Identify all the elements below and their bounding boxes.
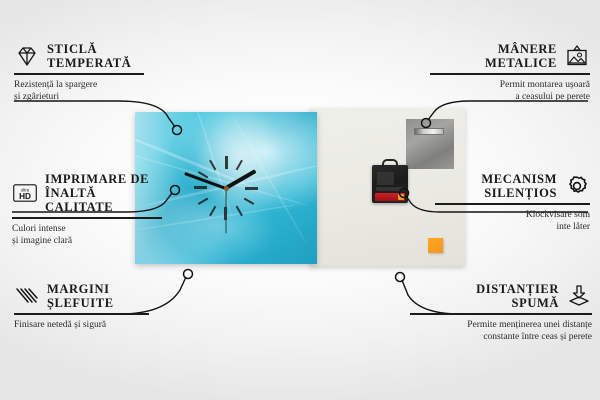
callout-subtitle-line1: Permit montarea ușoară	[430, 79, 590, 91]
callout-subtitle-line1: Culori intense	[12, 223, 162, 235]
callout-divider	[14, 73, 144, 75]
callout-title-line1: MÂNERE	[485, 42, 557, 56]
mechanism-shaft	[377, 172, 394, 185]
hatched-edge-icon	[14, 284, 40, 308]
battery-plus-terminal	[398, 194, 404, 200]
diamond-icon	[14, 44, 40, 68]
callout-divider	[12, 217, 162, 219]
callout-divider	[410, 313, 592, 315]
callout-title-line1: STICLĂ	[47, 42, 131, 56]
product-image	[135, 108, 465, 268]
callout-header: MARGINI ȘLEFUITE	[14, 282, 149, 310]
callout-subtitle-line2: constante între ceas și perete	[410, 331, 592, 343]
second-hand	[226, 188, 227, 233]
callout-title-line2: METALICE	[485, 56, 557, 70]
callout-title-line2: ÎNALTĂ CALITATE	[45, 186, 162, 214]
callout-metal-handles: MÂNERE METALICE Permit montarea ușoară a…	[430, 42, 590, 103]
callout-title-line2: SPUMĂ	[476, 296, 559, 310]
hanger-slot	[414, 128, 444, 135]
mechanism-bar	[376, 187, 403, 191]
callout-subtitle-line1: Klockvisare som	[435, 209, 590, 221]
callout-divider	[430, 73, 590, 75]
callout-subtitle-line2: și zgârieturi	[14, 91, 144, 103]
callout-header: MÂNERE METALICE	[430, 42, 590, 70]
callout-title-line1: DISTANȚIER	[476, 282, 559, 296]
callout-divider	[435, 203, 590, 205]
clock-center-pivot	[224, 186, 229, 191]
callout-header: MECANISM SILENȚIOS	[435, 172, 590, 200]
clock-mechanism	[372, 165, 408, 203]
callout-header: ultra HD IMPRIMARE DE ÎNALTĂ CALITATE	[12, 172, 162, 214]
ultra-hd-icon: ultra HD	[12, 181, 38, 205]
framed-picture-icon	[564, 44, 590, 68]
callout-subtitle-line2: a ceasului pe perete	[430, 91, 590, 103]
callout-tempered-glass: STICLĂ TEMPERATĂ Rezistență la spargere …	[14, 42, 144, 103]
callout-subtitle-line2: inte låter	[435, 221, 590, 233]
callout-title-line2: TEMPERATĂ	[47, 56, 131, 70]
callout-title-line1: IMPRIMARE DE	[45, 172, 162, 186]
svg-text:HD: HD	[19, 192, 31, 201]
callout-title-line1: MARGINI	[47, 282, 114, 296]
callout-subtitle-line1: Permite menținerea unei distanțe	[410, 319, 592, 331]
press-down-arrow-icon	[566, 284, 592, 308]
callout-polished-edges: MARGINI ȘLEFUITE Finisare netedă și sigu…	[14, 282, 149, 331]
callout-header: STICLĂ TEMPERATĂ	[14, 42, 144, 70]
metal-hanger-plate	[406, 119, 454, 169]
mechanism-hanging-loop	[382, 159, 398, 168]
callout-title-line2: ȘLEFUITE	[47, 296, 114, 310]
clock-glass-face	[135, 112, 317, 264]
foam-spacer-pad	[428, 238, 443, 253]
battery	[375, 193, 405, 201]
callout-subtitle-line1: Rezistență la spargere	[14, 79, 144, 91]
callout-header: DISTANȚIER SPUMĂ	[410, 282, 592, 310]
callout-foam-spacer: DISTANȚIER SPUMĂ Permite menținerea unei…	[410, 282, 592, 343]
callout-hq-print: ultra HD IMPRIMARE DE ÎNALTĂ CALITATE Cu…	[12, 172, 162, 247]
callout-divider	[14, 313, 149, 315]
callout-title-line2: SILENȚIOS	[481, 186, 557, 200]
gear-icon	[564, 174, 590, 198]
callout-subtitle-line2: și imagine clară	[12, 235, 162, 247]
callout-subtitle-line1: Finisare netedă și sigură	[14, 319, 149, 331]
callout-title-line1: MECANISM	[481, 172, 557, 186]
callout-silent-mechanism: MECANISM SILENȚIOS Klockvisare som inte …	[435, 172, 590, 233]
